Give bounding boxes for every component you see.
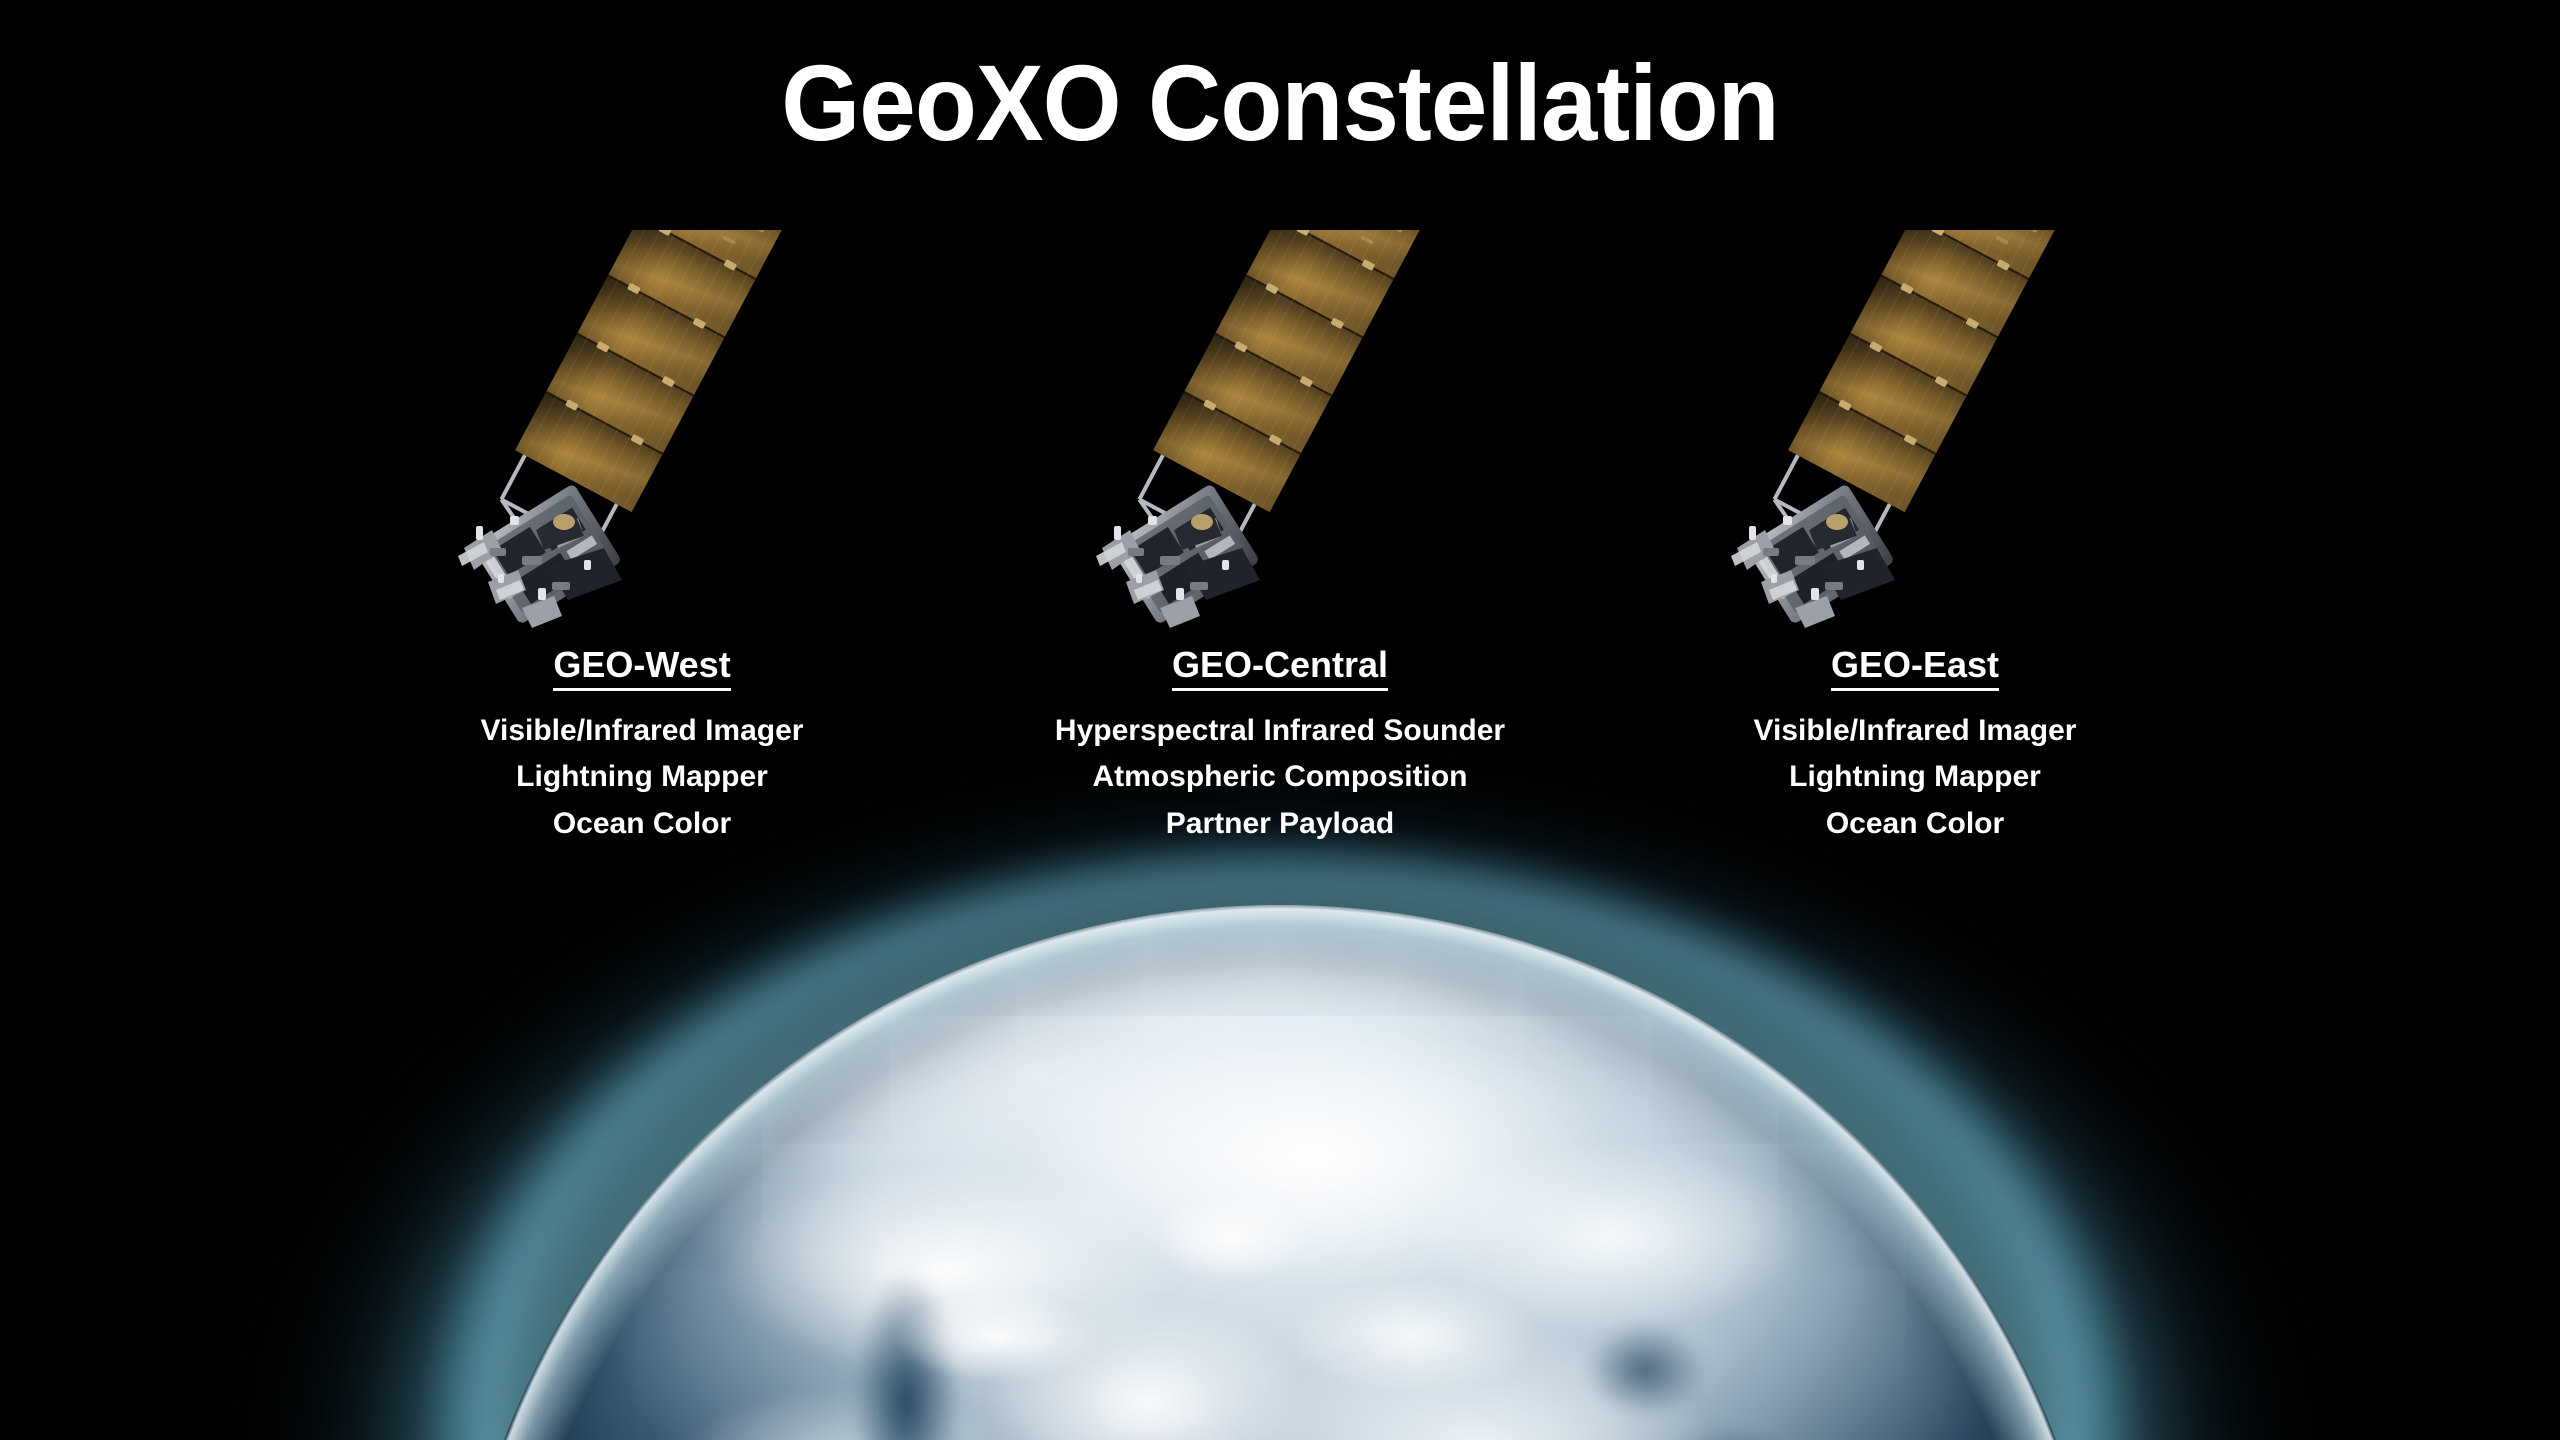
satellite-column-geo-east: GEO-East Visible/Infrared Imager Lightni… [1635,230,2195,847]
instrument-item: Partner Payload [1000,801,1560,848]
instrument-item: Atmospheric Composition [1000,754,1560,801]
instrument-item: Ocean Color [1635,801,2195,848]
satellite-name-geo-central: GEO-Central [1172,646,1388,691]
satellite-name-geo-east: GEO-East [1831,646,1999,691]
satellite-column-geo-west: GEO-West Visible/Infrared Imager Lightni… [362,230,922,847]
satellite-instruments-geo-east: Visible/Infrared Imager Lightning Mapper… [1635,708,2195,848]
instrument-item: Lightning Mapper [1635,754,2195,801]
satellite-instruments-geo-central: Hyperspectral Infrared Sounder Atmospher… [1000,708,1560,848]
satellite-label-block-geo-central: GEO-Central Hyperspectral Infrared Sound… [1000,646,1560,847]
satellite-column-geo-central: GEO-Central Hyperspectral Infrared Sound… [1000,230,1560,847]
instrument-item: Visible/Infrared Imager [1635,708,2195,755]
earth-terminator-shading [450,905,2110,1440]
satellite-icon [1635,230,2195,630]
satellite-icon [362,230,922,630]
geoxo-constellation-graphic: GeoXO Constellation [0,0,2560,1440]
instrument-item: Ocean Color [362,801,922,848]
instrument-item: Hyperspectral Infrared Sounder [1000,708,1560,755]
satellite-instruments-geo-west: Visible/Infrared Imager Lightning Mapper… [362,708,922,848]
satellite-label-block-geo-east: GEO-East Visible/Infrared Imager Lightni… [1635,646,2195,847]
instrument-item: Lightning Mapper [362,754,922,801]
satellite-icon [1000,230,1560,630]
satellite-name-geo-west: GEO-West [553,646,730,691]
page-title: GeoXO Constellation [77,40,2483,165]
instrument-item: Visible/Infrared Imager [362,708,922,755]
satellite-label-block-geo-west: GEO-West Visible/Infrared Imager Lightni… [362,646,922,847]
earth-globe [450,905,2110,1440]
